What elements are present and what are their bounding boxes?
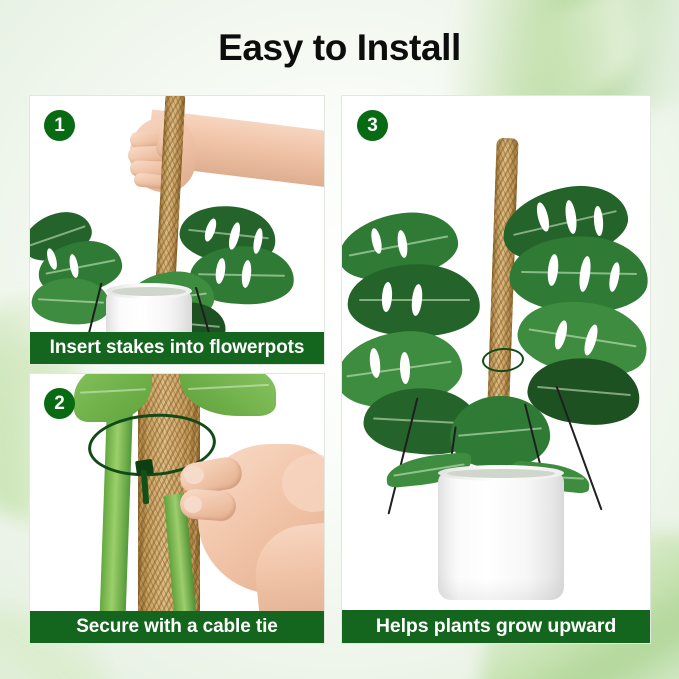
thumbnail <box>184 466 204 484</box>
step-3-photo: 3 <box>342 96 650 610</box>
infographic-canvas: Easy to Install <box>0 0 679 679</box>
step-2-photo: 2 <box>30 374 324 611</box>
white-flowerpot <box>438 472 564 600</box>
step-card-2: 2 Secure with a cable tie <box>29 373 325 644</box>
step-card-1: 1 Insert stakes into flowerpots <box>29 95 325 365</box>
white-flowerpot <box>106 290 192 332</box>
step-1-photo: 1 <box>30 96 324 332</box>
step-caption-1: Insert stakes into flowerpots <box>30 332 324 364</box>
step-caption-2: Secure with a cable tie <box>30 611 324 643</box>
step-card-3: 3 Helps plants grow upward <box>341 95 651 644</box>
step-1-illustration <box>30 96 324 332</box>
step-2-illustration <box>30 374 324 611</box>
step-3-illustration <box>342 96 650 610</box>
step-number-badge-3: 3 <box>357 110 388 141</box>
fingernail <box>184 496 202 513</box>
cable-tie <box>481 347 525 374</box>
step-number-badge-2: 2 <box>44 388 75 419</box>
step-caption-3: Helps plants grow upward <box>342 610 650 643</box>
page-title: Easy to Install <box>0 26 679 70</box>
step-number-badge-1: 1 <box>44 110 75 141</box>
